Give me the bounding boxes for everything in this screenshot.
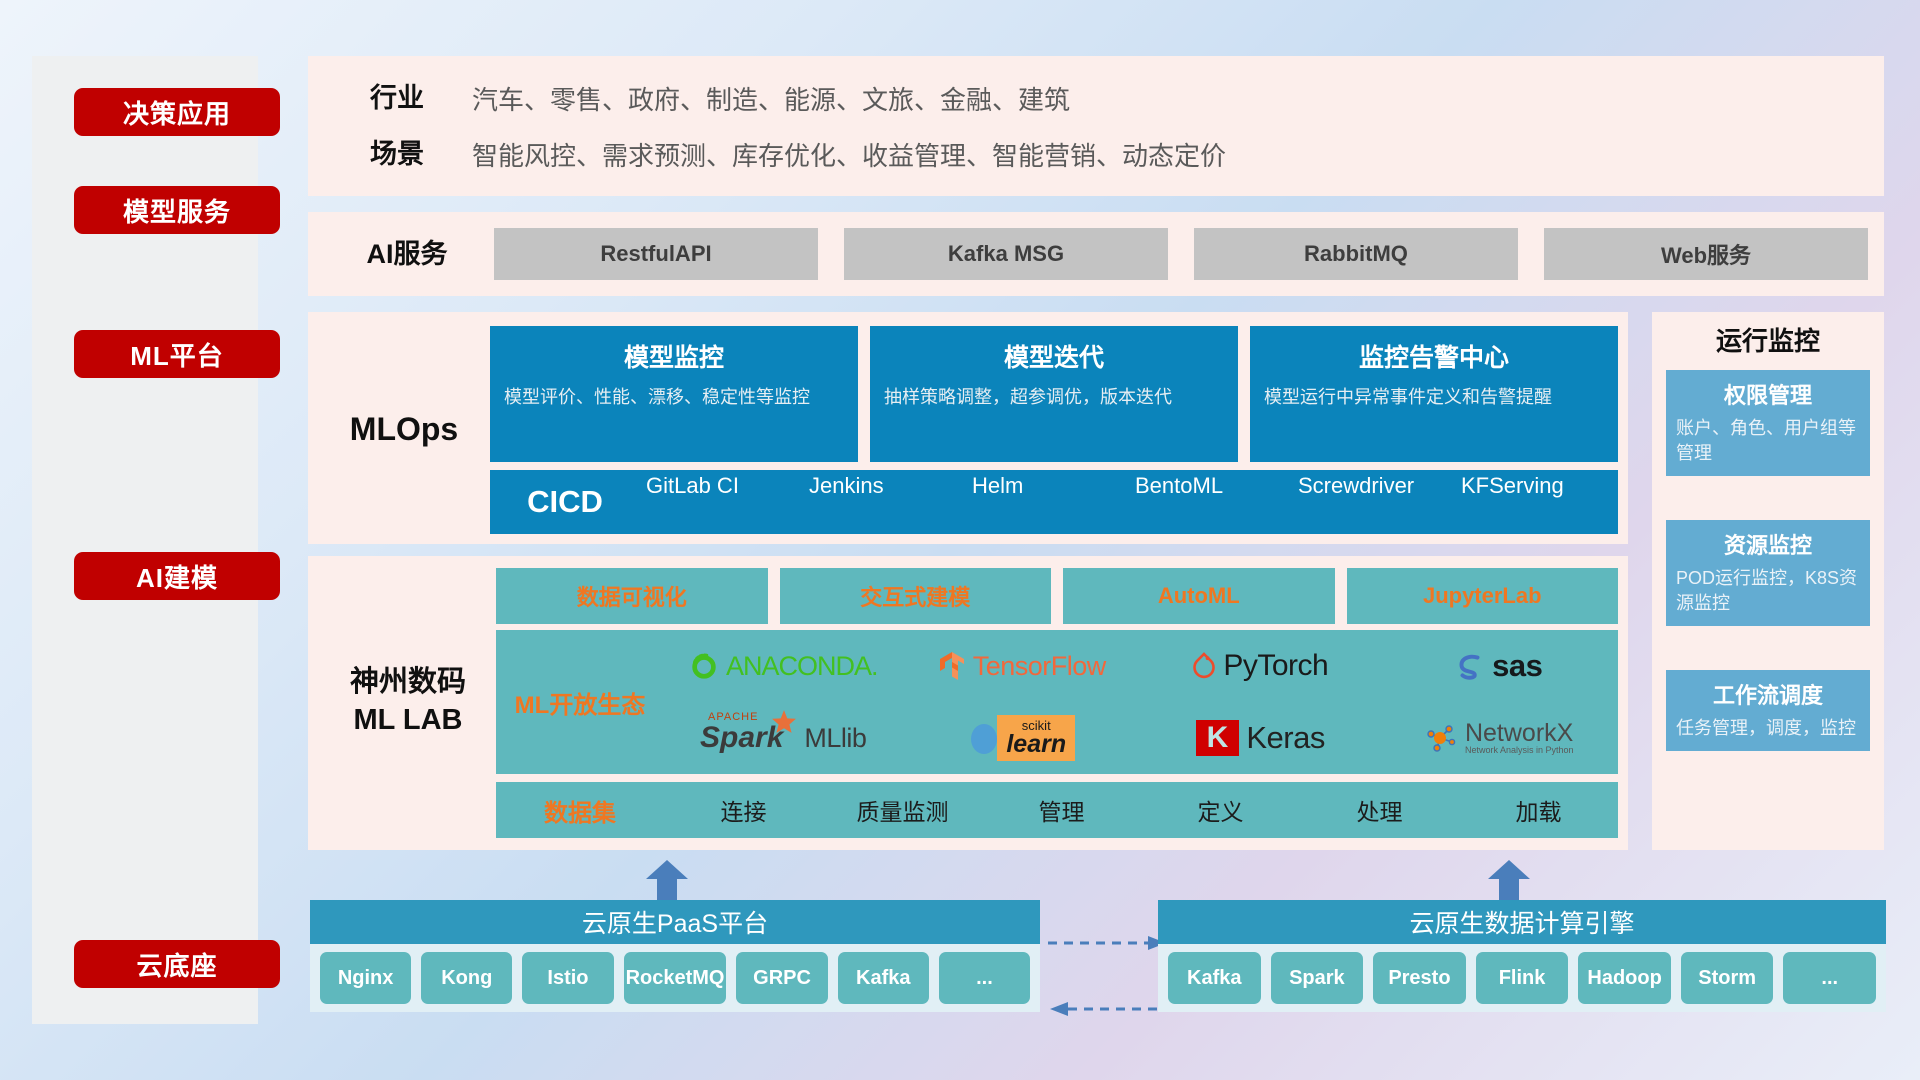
- engine-chip-hadoop[interactable]: Hadoop: [1578, 952, 1671, 1004]
- ai-service-label: AI服务: [332, 238, 482, 270]
- ecosystem-logo-grid: ANACONDA. TensorFlow: [664, 630, 1618, 774]
- mlops-card-model-monitoring[interactable]: 模型监控 模型评价、性能、漂移、稳定性等监控: [490, 326, 858, 462]
- card-title: 权限管理: [1676, 378, 1860, 410]
- engine-header: 云原生数据计算引擎: [1158, 900, 1886, 944]
- industry-values: 汽车、零售、政府、制造、能源、文旅、金融、建筑: [472, 80, 1070, 117]
- anaconda-icon: [689, 651, 719, 681]
- paas-chip-kafka[interactable]: Kafka: [838, 952, 929, 1004]
- stage-chip-label: AI建模: [136, 558, 218, 595]
- card-title: 监控告警中心: [1264, 338, 1604, 374]
- engine-chip-more[interactable]: ...: [1783, 952, 1876, 1004]
- anaconda-logo: ANACONDA.: [689, 651, 878, 682]
- cicd-title: CICD: [490, 484, 640, 520]
- mlops-card-list: 模型监控 模型评价、性能、漂移、稳定性等监控 模型迭代 抽样策略调整，超参调优，…: [490, 326, 1618, 462]
- paas-chip-list: Nginx Kong Istio RocketMQ GRPC Kafka ...: [310, 944, 1040, 1012]
- stage-chip-label: ML平台: [130, 336, 224, 373]
- networkx-wordmark-block: NetworkX Network Analysis in Python: [1465, 721, 1574, 755]
- monitor-card-permission-management[interactable]: 权限管理 账户、角色、用户组等管理: [1666, 370, 1870, 476]
- engine-chip-kafka[interactable]: Kafka: [1168, 952, 1261, 1004]
- engine-chip-list: Kafka Spark Presto Flink Hadoop Storm ..…: [1158, 944, 1886, 1012]
- engine-to-paas-arrow: [1048, 1000, 1168, 1018]
- engine-chip-flink[interactable]: Flink: [1476, 952, 1569, 1004]
- industry-key: 行业: [322, 82, 472, 114]
- stage-chip-label: 模型服务: [123, 192, 231, 229]
- networkx-tagline: Network Analysis in Python: [1465, 746, 1574, 755]
- dataset-item-processing[interactable]: 处理: [1300, 793, 1459, 827]
- scikit-learn-badge: scikit learn: [997, 715, 1075, 762]
- dataset-item-list: 连接 质量监测 管理 定义 处理 加载: [664, 793, 1618, 827]
- networkx-logo: NetworkX Network Analysis in Python: [1424, 721, 1574, 755]
- monitor-card-resource-monitoring[interactable]: 资源监控 POD运行监控，K8S资源监控: [1666, 520, 1870, 626]
- dataset-item-definition[interactable]: 定义: [1141, 793, 1300, 827]
- ml-open-ecosystem-label: ML开放生态: [496, 685, 664, 720]
- engine-chip-presto[interactable]: Presto: [1373, 952, 1466, 1004]
- industry-row: 行业 汽车、零售、政府、制造、能源、文旅、金融、建筑: [322, 80, 1070, 117]
- card-desc: 账户、角色、用户组等管理: [1676, 416, 1860, 466]
- dataset-item-management[interactable]: 管理: [982, 793, 1141, 827]
- lab-tile-jupyterlab[interactable]: JupyterLab: [1347, 568, 1619, 624]
- paas-up-arrow-icon: [644, 860, 690, 900]
- stage-chip-ml-platform[interactable]: ML平台: [74, 330, 280, 378]
- stage-chip-cloud-base[interactable]: 云底座: [74, 940, 280, 988]
- runtime-monitoring-band: 运行监控 权限管理 账户、角色、用户组等管理 资源监控 POD运行监控，K8S资…: [1652, 312, 1884, 850]
- service-chip-rabbitmq[interactable]: RabbitMQ: [1194, 228, 1518, 280]
- tensorflow-icon: [938, 650, 966, 682]
- stage-rail: 决策应用 模型服务 ML平台 AI建模 云底座: [32, 56, 258, 1024]
- stage-chip-ai-modeling[interactable]: AI建模: [74, 552, 280, 600]
- pytorch-logo: PyTorch: [1192, 649, 1328, 683]
- keras-wordmark: Keras: [1246, 720, 1324, 756]
- cicd-item-bentoml[interactable]: BentoML: [1129, 473, 1292, 531]
- paas-chip-more[interactable]: ...: [939, 952, 1030, 1004]
- sas-icon: [1455, 651, 1485, 681]
- mlops-band: MLOps 模型监控 模型评价、性能、漂移、稳定性等监控 模型迭代 抽样策略调整…: [308, 312, 1628, 544]
- mlops-card-alert-center[interactable]: 监控告警中心 模型运行中异常事件定义和告警提醒: [1250, 326, 1618, 462]
- runtime-monitoring-title: 运行监控: [1652, 326, 1884, 357]
- dataset-item-loading[interactable]: 加载: [1459, 793, 1618, 827]
- engine-up-arrow-icon: [1486, 860, 1532, 900]
- card-desc: 抽样策略调整，超参调优，版本迭代: [884, 384, 1224, 410]
- paas-chip-kong[interactable]: Kong: [421, 952, 512, 1004]
- pytorch-wordmark: PyTorch: [1223, 649, 1328, 683]
- cicd-item-kfserving[interactable]: KFServing: [1455, 473, 1618, 531]
- lab-tile-data-visualization[interactable]: 数据可视化: [496, 568, 768, 624]
- paas-chip-grpc[interactable]: GRPC: [736, 952, 827, 1004]
- cicd-item-jenkins[interactable]: Jenkins: [803, 473, 966, 531]
- monitor-card-workflow-scheduling[interactable]: 工作流调度 任务管理，调度，监控: [1666, 670, 1870, 751]
- service-chip-web-service[interactable]: Web服务: [1544, 228, 1868, 280]
- keras-k-icon: K: [1196, 720, 1240, 756]
- cicd-item-helm[interactable]: Helm: [966, 473, 1129, 531]
- paas-chip-nginx[interactable]: Nginx: [320, 952, 411, 1004]
- service-chip-kafka-msg[interactable]: Kafka MSG: [844, 228, 1168, 280]
- stage-chip-decision-apps[interactable]: 决策应用: [74, 88, 280, 136]
- paas-to-engine-arrow: [1048, 934, 1168, 952]
- cicd-bar: CICD GitLab CI Jenkins Helm BentoML Scre…: [490, 470, 1618, 534]
- cicd-item-list: GitLab CI Jenkins Helm BentoML Screwdriv…: [640, 473, 1618, 531]
- anaconda-wordmark: ANACONDA.: [726, 651, 878, 682]
- card-title: 工作流调度: [1676, 678, 1860, 710]
- keras-logo: K Keras: [1196, 720, 1325, 756]
- lab-tile-automl[interactable]: AutoML: [1063, 568, 1335, 624]
- networkx-wordmark: NetworkX: [1465, 721, 1574, 746]
- paas-chip-rocketmq[interactable]: RocketMQ: [624, 952, 727, 1004]
- cicd-item-screwdriver[interactable]: Screwdriver: [1292, 473, 1455, 531]
- spark-star-icon: [771, 709, 797, 735]
- spark-mllib-logo: APACHE Spark MLlib: [700, 721, 866, 755]
- ai-service-band: AI服务 RestfulAPI Kafka MSG RabbitMQ Web服务: [308, 212, 1884, 296]
- dataset-bar: 数据集 连接 质量监测 管理 定义 处理 加载: [496, 782, 1618, 838]
- dataset-item-connect[interactable]: 连接: [664, 793, 823, 827]
- card-desc: 模型评价、性能、漂移、稳定性等监控: [504, 384, 844, 410]
- mlops-label: MLOps: [324, 410, 484, 448]
- engine-chip-storm[interactable]: Storm: [1681, 952, 1774, 1004]
- paas-chip-istio[interactable]: Istio: [522, 952, 613, 1004]
- stage-chip-label: 云底座: [136, 946, 217, 983]
- ml-open-ecosystem-panel: ML开放生态 ANACONDA.: [496, 630, 1618, 774]
- cloud-native-paas-group: 云原生PaaS平台 Nginx Kong Istio RocketMQ GRPC…: [310, 900, 1040, 1012]
- ml-lab-label-line2: ML LAB: [322, 702, 494, 740]
- engine-chip-spark[interactable]: Spark: [1271, 952, 1364, 1004]
- learn-word: learn: [1006, 733, 1066, 757]
- ml-lab-label-line1: 神州数码: [322, 664, 494, 702]
- pytorch-icon: [1192, 651, 1216, 681]
- lab-tile-interactive-modeling[interactable]: 交互式建模: [780, 568, 1052, 624]
- networkx-graph-icon: [1424, 722, 1458, 754]
- service-chip-restfulapi[interactable]: RestfulAPI: [494, 228, 818, 280]
- ai-service-chip-list: RestfulAPI Kafka MSG RabbitMQ Web服务: [494, 228, 1868, 280]
- cloud-native-data-engine-group: 云原生数据计算引擎 Kafka Spark Presto Flink Hadoo…: [1158, 900, 1886, 1012]
- stage-chip-model-service[interactable]: 模型服务: [74, 186, 280, 234]
- cicd-item-gitlab-ci[interactable]: GitLab CI: [640, 473, 803, 531]
- dataset-item-quality-monitoring[interactable]: 质量监测: [823, 793, 982, 827]
- sas-wordmark: sas: [1492, 648, 1542, 684]
- scenario-values: 智能风控、需求预测、库存优化、收益管理、智能营销、动态定价: [472, 136, 1226, 173]
- spark-mark: APACHE Spark: [700, 721, 783, 755]
- ml-lab-tile-list: 数据可视化 交互式建模 AutoML JupyterLab: [496, 568, 1618, 624]
- dataset-title: 数据集: [496, 793, 664, 828]
- apache-word: APACHE: [708, 711, 758, 723]
- card-title: 资源监控: [1676, 528, 1860, 560]
- tensorflow-wordmark: TensorFlow: [973, 651, 1106, 682]
- card-title: 模型监控: [504, 338, 844, 374]
- architecture-diagram: 决策应用 模型服务 ML平台 AI建模 云底座 行业 汽车、零售、政府、制造、能…: [0, 0, 1920, 1080]
- card-desc: 任务管理，调度，监控: [1676, 716, 1860, 741]
- scenario-row: 场景 智能风控、需求预测、库存优化、收益管理、智能营销、动态定价: [322, 136, 1226, 173]
- mlops-card-model-iteration[interactable]: 模型迭代 抽样策略调整，超参调优，版本迭代: [870, 326, 1238, 462]
- ml-lab-label: 神州数码 ML LAB: [322, 664, 494, 739]
- mllib-wordmark: MLlib: [804, 723, 866, 754]
- sas-logo: sas: [1455, 648, 1542, 684]
- paas-header: 云原生PaaS平台: [310, 900, 1040, 944]
- tensorflow-logo: TensorFlow: [938, 650, 1106, 682]
- decision-apps-band: 行业 汽车、零售、政府、制造、能源、文旅、金融、建筑 场景 智能风控、需求预测、…: [308, 56, 1884, 196]
- scenario-key: 场景: [322, 138, 472, 170]
- card-desc: POD运行监控，K8S资源监控: [1676, 566, 1860, 616]
- scikit-learn-logo: scikit learn: [968, 715, 1075, 762]
- ml-lab-band: 神州数码 ML LAB 数据可视化 交互式建模 AutoML JupyterLa…: [308, 556, 1628, 850]
- card-title: 模型迭代: [884, 338, 1224, 374]
- stage-chip-label: 决策应用: [123, 94, 231, 131]
- card-desc: 模型运行中异常事件定义和告警提醒: [1264, 384, 1604, 410]
